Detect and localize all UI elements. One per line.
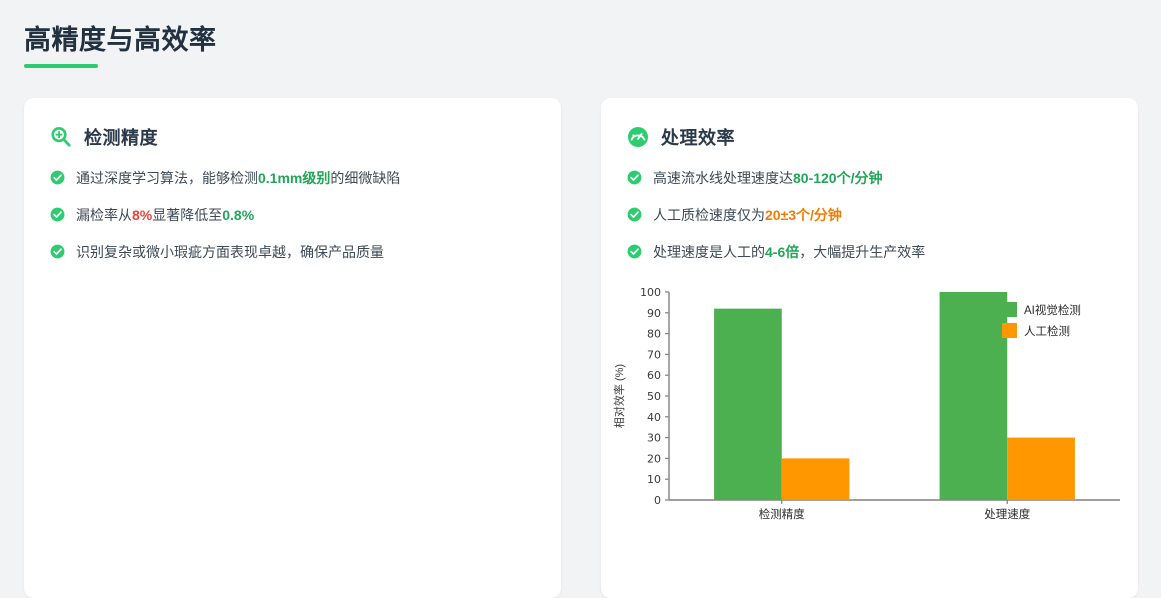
svg-text:检测精度: 检测精度 — [759, 507, 805, 521]
svg-text:AI视觉检测: AI视觉检测 — [1024, 303, 1081, 317]
list-item-label: 处理速度是人工的4-6倍，大幅提升生产效率 — [653, 242, 925, 262]
list-item: 高速流水线处理速度达80-120个/分钟 — [627, 168, 1138, 188]
card-accuracy: 检测精度 通过深度学习算法，能够检测0.1mm级别的细微缺陷 — [24, 98, 561, 598]
list-item: 漏检率从8%显著降低至0.8% — [50, 205, 561, 225]
svg-text:100: 100 — [640, 286, 661, 299]
check-circle-icon — [50, 244, 65, 259]
list-item: 处理速度是人工的4-6倍，大幅提升生产效率 — [627, 242, 1138, 262]
title-underline — [24, 64, 98, 68]
check-circle-icon — [50, 207, 65, 222]
list-item-label: 通过深度学习算法，能够检测0.1mm级别的细微缺陷 — [76, 168, 400, 188]
page-root: 高精度与高效率 检测精度 — [0, 0, 1161, 574]
accuracy-bullet-list: 通过深度学习算法，能够检测0.1mm级别的细微缺陷 漏检率从8%显著降低至0.8… — [24, 150, 561, 262]
search-plus-icon — [50, 126, 72, 148]
check-circle-icon — [627, 170, 642, 185]
efficiency-bullet-list: 高速流水线处理速度达80-120个/分钟 人工质检速度仅为20±3个/分钟 — [601, 150, 1138, 262]
section-header: 高精度与高效率 — [24, 22, 217, 68]
svg-text:人工检测: 人工检测 — [1024, 324, 1070, 338]
list-item-label: 高速流水线处理速度达80-120个/分钟 — [653, 168, 882, 188]
efficiency-bar-chart: 0102030405060708090100相对效率 (%)检测精度处理速度AI… — [601, 280, 1138, 542]
check-circle-icon — [627, 244, 642, 259]
svg-text:相对效率 (%): 相对效率 (%) — [612, 364, 626, 428]
svg-text:70: 70 — [647, 348, 661, 361]
card-efficiency-title: 处理效率 — [661, 124, 735, 150]
svg-text:30: 30 — [647, 432, 661, 445]
svg-text:10: 10 — [647, 473, 661, 486]
gauge-icon — [627, 126, 649, 148]
list-item: 识别复杂或微小瑕疵方面表现卓越，确保产品质量 — [50, 242, 561, 262]
svg-text:0: 0 — [654, 494, 661, 507]
chart-canvas: 0102030405060708090100相对效率 (%)检测精度处理速度AI… — [601, 280, 1138, 542]
check-circle-icon — [627, 207, 642, 222]
list-item-label: 漏检率从8%显著降低至0.8% — [76, 205, 254, 225]
list-item: 人工质检速度仅为20±3个/分钟 — [627, 205, 1138, 225]
list-item-label: 人工质检速度仅为20±3个/分钟 — [653, 205, 842, 225]
page-title: 高精度与高效率 — [24, 22, 217, 58]
svg-text:60: 60 — [647, 369, 661, 382]
list-item: 通过深度学习算法，能够检测0.1mm级别的细微缺陷 — [50, 168, 561, 188]
card-accuracy-header: 检测精度 — [24, 98, 561, 150]
svg-text:50: 50 — [647, 390, 661, 403]
svg-text:20: 20 — [647, 452, 661, 465]
svg-text:40: 40 — [647, 411, 661, 424]
list-item-label: 识别复杂或微小瑕疵方面表现卓越，确保产品质量 — [76, 242, 384, 262]
svg-text:处理速度: 处理速度 — [984, 507, 1030, 521]
svg-text:80: 80 — [647, 328, 661, 341]
check-circle-icon — [50, 170, 65, 185]
card-accuracy-title: 检测精度 — [84, 124, 158, 150]
card-efficiency-header: 处理效率 — [601, 98, 1138, 150]
svg-text:90: 90 — [647, 307, 661, 320]
